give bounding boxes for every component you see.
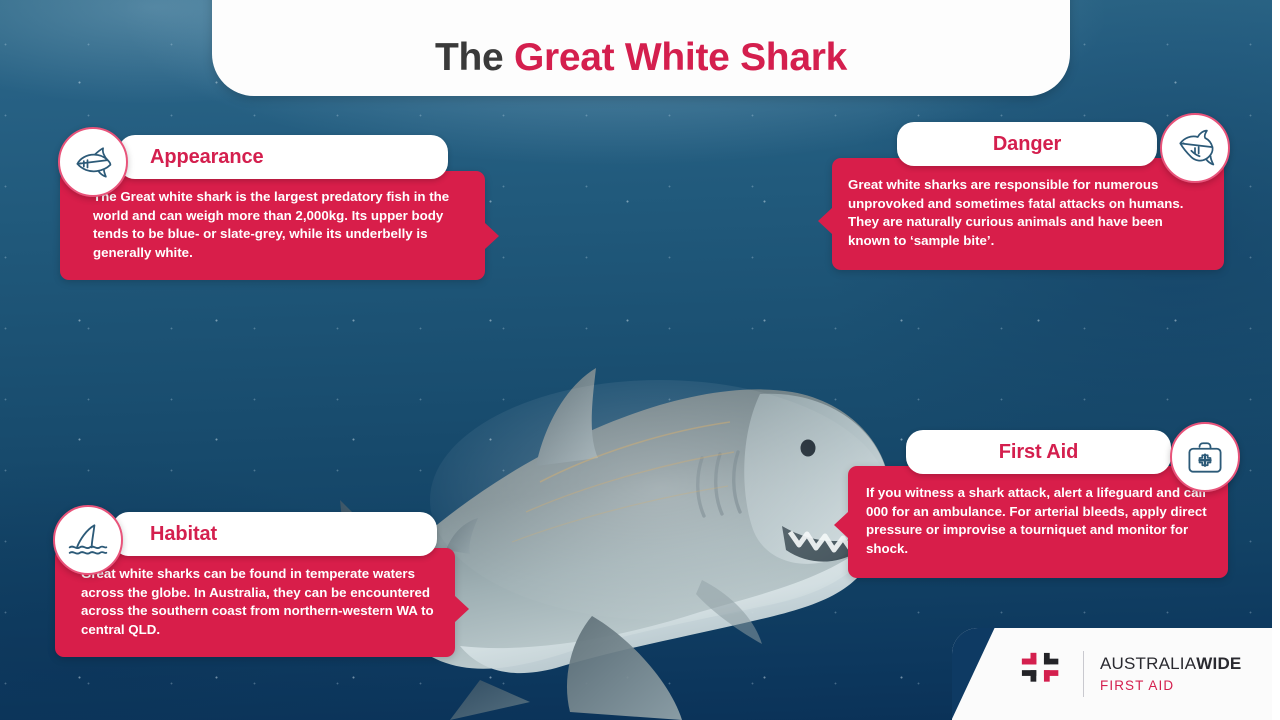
logo-australia: AUSTRALIA [1100, 654, 1196, 673]
logo-wordmark: AUSTRALIAWIDE FIRST AID [1100, 655, 1241, 693]
infographic-canvas: The Great White Shark Appearance The Gre… [0, 0, 1280, 720]
card-habitat: Habitat Great white sharks can be found … [55, 512, 455, 657]
card-appearance-body: The Great white shark is the largest pre… [60, 171, 485, 280]
card-habitat-header: Habitat [112, 512, 437, 556]
card-appearance-header: Appearance [118, 135, 448, 179]
page-title-prefix: The [435, 36, 514, 79]
card-habitat-title: Habitat [150, 523, 217, 546]
header-banner: The Great White Shark [212, 0, 1070, 96]
card-appearance-title: Appearance [150, 146, 264, 169]
card-appearance-text: The Great white shark is the largest pre… [93, 189, 449, 260]
logo-wide: WIDE [1196, 654, 1241, 673]
page-title-main: Great White Shark [514, 36, 847, 79]
card-first-aid-text: If you witness a shark attack, alert a l… [866, 485, 1207, 556]
card-danger: Danger Great white sharks are responsibl… [832, 122, 1224, 270]
card-danger-body: Great white sharks are responsible for n… [832, 158, 1224, 270]
australia-wide-cross-mark-icon [1020, 651, 1066, 697]
card-habitat-text: Great white sharks can be found in tempe… [81, 566, 434, 637]
card-habitat-body: Great white sharks can be found in tempe… [55, 548, 455, 657]
card-first-aid: First Aid If you witness a shark attack,… [848, 430, 1228, 578]
card-habitat-pointer [455, 596, 469, 622]
right-edge-gutter [1272, 0, 1280, 720]
logo-line-2: FIRST AID [1100, 679, 1241, 693]
card-first-aid-pointer [834, 512, 848, 538]
logo-divider [1083, 651, 1084, 697]
card-appearance-pointer [485, 223, 499, 249]
medical-kit-icon [1170, 422, 1240, 492]
card-first-aid-title: First Aid [906, 441, 1171, 464]
card-danger-pointer [818, 208, 832, 234]
card-danger-header: Danger [897, 122, 1157, 166]
card-first-aid-header: First Aid [906, 430, 1171, 474]
page-title: The Great White Shark [435, 36, 847, 80]
logo-line-1: AUSTRALIAWIDE [1100, 655, 1241, 672]
card-first-aid-body: If you witness a shark attack, alert a l… [848, 466, 1228, 578]
brand-logo-plaque: AUSTRALIAWIDE FIRST AID [952, 628, 1272, 720]
card-danger-title: Danger [897, 133, 1157, 156]
leaping-shark-icon [1160, 113, 1230, 183]
card-danger-text: Great white sharks are responsible for n… [848, 177, 1183, 248]
card-appearance: Appearance The Great white shark is the … [60, 135, 485, 280]
shark-fish-icon [58, 127, 128, 197]
shark-fin-waves-icon [53, 505, 123, 575]
